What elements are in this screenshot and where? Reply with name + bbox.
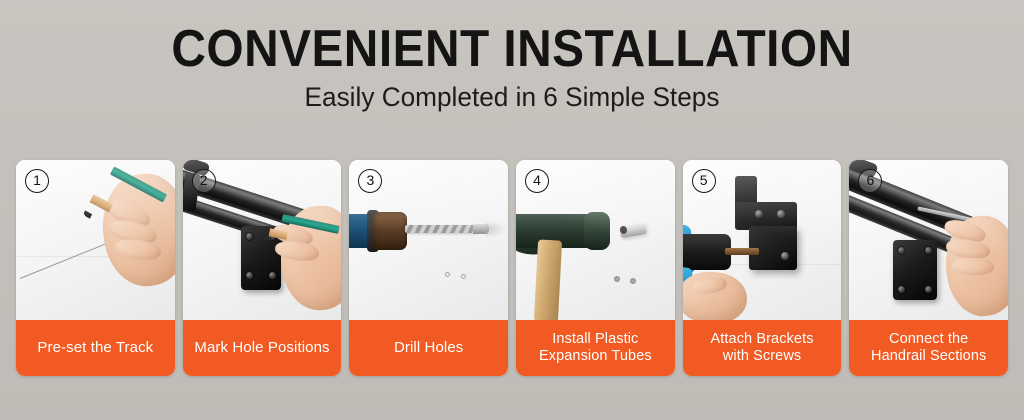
drill-chuck: [373, 212, 407, 250]
step-card-4[interactable]: 4 Install Plastic Expansion Tubes: [516, 160, 675, 376]
installation-banner: CONVENIENT INSTALLATION Easily Completed…: [0, 0, 1024, 420]
masonry-drill-bit: [405, 225, 477, 233]
caption-line: Install Plastic: [552, 331, 638, 347]
screw: [781, 252, 789, 260]
step-badge-2: 2: [192, 169, 216, 193]
step-badge-4: 4: [525, 169, 549, 193]
step-photo-4: 4: [516, 160, 675, 320]
step-photo-5: 5: [683, 160, 842, 320]
caption-line: Connect the: [889, 331, 968, 347]
step-card-2[interactable]: 2 Mark Hole Positions: [183, 160, 342, 376]
bolt-hole: [269, 272, 276, 279]
drill-body: [683, 234, 731, 270]
hammer-face: [584, 212, 610, 250]
page-title: CONVENIENT INSTALLATION: [41, 22, 983, 76]
caption-line: Handrail Sections: [871, 348, 986, 364]
step-badge-5: 5: [692, 169, 716, 193]
step-caption-5: Attach Brackets with Screws: [683, 320, 842, 376]
drilled-hole: [614, 276, 620, 282]
finger: [952, 257, 995, 275]
page-subtitle: Easily Completed in 6 Simple Steps: [15, 82, 1008, 112]
step-photo-2: 2: [183, 160, 342, 320]
step-caption-6: Connect the Handrail Sections: [849, 320, 1008, 376]
step-photo-3: 3: [349, 160, 508, 320]
step-card-6[interactable]: 6 Connect the Handrail Sections: [849, 160, 1008, 376]
screw: [755, 210, 763, 218]
caption-line: Expansion Tubes: [539, 348, 652, 364]
drill-dust: [485, 220, 507, 238]
step-card-5[interactable]: 5 Attach Brackets with Screws: [683, 160, 842, 376]
caption-line: with Screws: [723, 348, 801, 364]
step-caption-3: Drill Holes: [349, 320, 508, 376]
drilled-hole: [630, 278, 636, 284]
step-caption-1: Pre-set the Track: [16, 320, 175, 376]
bolt-hole: [246, 272, 253, 279]
screwdriver-bit: [725, 248, 759, 255]
step-caption-4: Install Plastic Expansion Tubes: [516, 320, 675, 376]
hammer-handle: [534, 239, 562, 320]
step-card-1[interactable]: 1 Pre-set the Track: [16, 160, 175, 376]
banner-header: CONVENIENT INSTALLATION Easily Completed…: [0, 0, 1024, 112]
step-badge-1: 1: [25, 169, 49, 193]
caption-line: Attach Brackets: [711, 331, 814, 347]
step-card-3[interactable]: 3 Drill Holes: [349, 160, 508, 376]
step-caption-2: Mark Hole Positions: [183, 320, 342, 376]
step-photo-1: 1: [16, 160, 175, 320]
screw: [777, 210, 785, 218]
bolt-hole: [246, 233, 253, 240]
steps-strip: 1 Pre-set the Track: [16, 160, 1008, 376]
step-photo-6: 6: [849, 160, 1008, 320]
